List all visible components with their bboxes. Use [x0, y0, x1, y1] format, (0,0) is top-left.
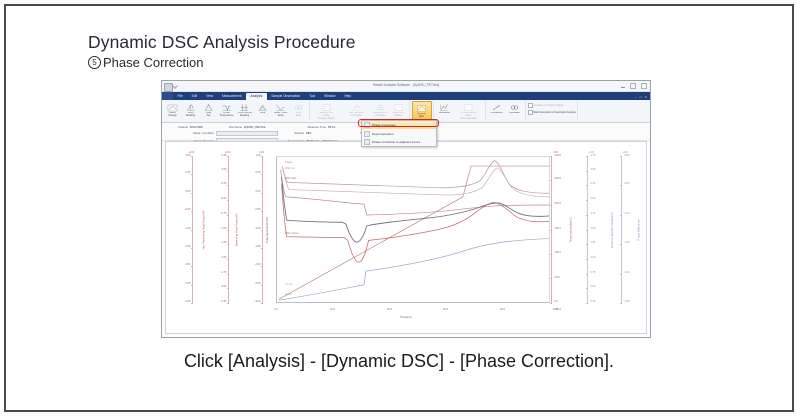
x-tick-label: 54.0: [553, 308, 558, 311]
axis-tick: -2.00: [221, 286, 227, 289]
x-axis-title: Time(min): [166, 316, 646, 319]
axis-tick: -1.00: [185, 228, 191, 231]
axis-tick: 1.80: [625, 301, 630, 304]
menu-option-label: Heat Correction: [372, 132, 394, 136]
ribbon-label: Ref. Subtract Correction: [349, 112, 364, 118]
plot-area: Phase DSC rev DSC total DSC nonrev Cp re…: [276, 156, 550, 303]
ribbon-label: Sample Line Plate Analysis Tables: [318, 112, 336, 121]
derivative-icon: [439, 103, 450, 112]
ribbon-check-batch-execution[interactable]: Batch Execution of Automatic Analysis: [528, 110, 576, 115]
axis-tick: -0.75: [221, 213, 227, 216]
ribbon-label: Time Infomat Reading: [237, 112, 252, 118]
menu-item-analysis[interactable]: Analysis: [246, 93, 267, 101]
curve-label-dsc-rev: DSC rev: [285, 167, 294, 170]
window-title: Hitachi Analysis Software - [DyDSC_PET.t…: [162, 83, 650, 87]
axis-tick: 1.25: [591, 242, 596, 245]
x-tick-label: 30.0: [443, 308, 448, 311]
axis-title: Total Heat Flow(mW): [265, 216, 269, 242]
ribbon-button-time-information-reading[interactable]: Time Infomat Reading: [236, 101, 254, 118]
axis-tick: 1.00: [185, 155, 190, 158]
ribbon-button-area[interactable]: Area: [254, 101, 272, 115]
menu-option-heat-correction[interactable]: Heat Correction: [362, 129, 436, 137]
dynamic-dsc-icon: [416, 104, 427, 113]
ribbon-button-glass-change[interactable]: Glass Change: [164, 101, 182, 118]
ribbon-label: Glass Trans Temp: [274, 112, 287, 118]
axis-tick: -1.75: [221, 272, 227, 275]
axis-tick: -2.00: [255, 264, 261, 267]
axis-tick: 0.75: [591, 272, 596, 275]
ribbon-label: Slide Curv Tables: [393, 112, 405, 118]
title-bar: Hitachi Analysis Software - [DyDSC_PET.t…: [162, 81, 650, 92]
menu-bar: File Edit View Measurement Analysis Samp…: [162, 92, 650, 100]
ribbon-button-glass-trans-temp[interactable]: Glass Trans Temp: [272, 101, 290, 118]
area-icon: [257, 103, 268, 112]
ribbon-button-heat-flow: Heat Flow: [290, 101, 308, 118]
info-value-measure-time: 54:14: [328, 125, 335, 129]
axis-tick: -1.25: [221, 242, 227, 245]
ribbon-label: Temp Reading: [186, 112, 195, 118]
menu-option-phase-correction-adjacent-zones[interactable]: Phase correction in adjacent zones: [362, 138, 436, 146]
ribbon-button-sample-line-plate-analysis-tables: Sample Line Plate Analysis Tables: [312, 101, 342, 121]
doc-restore-icon[interactable]: □: [640, 95, 642, 99]
axis-tick: 2.60: [625, 183, 630, 186]
axis-tick: -3.00: [185, 301, 191, 304]
axis-tick: -2.00: [185, 264, 191, 267]
axis-tick: 0.0: [555, 301, 559, 304]
left-axis-non-reversing-heat-flow: x100 Non-Reversing Heat Flow(mW) 1.00 0.…: [192, 156, 193, 303]
calibration-icon: [509, 103, 520, 112]
axis-tick: 0.25: [591, 301, 596, 304]
curve-label-dsc-nonrev: DSC nonrev: [285, 232, 299, 235]
axis-tick: 250.0: [555, 178, 562, 181]
checkbox-icon: [528, 110, 533, 115]
axis-tick: 0.25: [221, 155, 226, 158]
ribbon-label: Correlation: [490, 112, 502, 115]
ribbon-label: Glass Change: [168, 112, 177, 118]
adjacent-zones-icon: [364, 139, 370, 145]
axis-tick: 200.0: [555, 203, 562, 206]
curve-label-dsc-total: DSC total: [285, 177, 296, 180]
menu-window-controls: – □ ✕: [635, 95, 647, 99]
step-number-badge: 5: [88, 56, 101, 69]
axis-tick: 0.50: [185, 172, 190, 175]
slide: Dynamic DSC Analysis Procedure 5 Phase C…: [4, 4, 794, 412]
ribbon-button-temp-reading[interactable]: Temp Reading: [182, 101, 200, 118]
glass-trans-temp-icon: [275, 103, 286, 112]
ribbon-group-correlation-calibration: Correlation Calibration: [486, 100, 526, 120]
axis-tick: -1.50: [185, 246, 191, 249]
info-label-module: Module: [166, 125, 188, 129]
menu-item-help[interactable]: Help: [340, 93, 356, 101]
ribbon-button-correlation[interactable]: Correlation: [488, 101, 506, 115]
application-window: Hitachi Analysis Software - [DyDSC_PET.t…: [161, 80, 651, 338]
onset-temperature-icon: [221, 103, 232, 112]
axis-tick: 2.00: [625, 272, 630, 275]
slide-curve-icon: [393, 103, 404, 112]
axis-tick: -3.00: [255, 301, 261, 304]
ribbon-label: Int Subtraction Spec Data Calculate: [460, 112, 478, 121]
menu-item-tool[interactable]: Tool: [305, 93, 320, 101]
meas-condition-field[interactable]: [216, 131, 278, 137]
info-label-measure-time: Measure Time: [296, 125, 326, 129]
maximize-icon[interactable]: [630, 83, 636, 89]
axis-tick: 0.50: [591, 286, 596, 289]
ribbon-label: Creation of Analysis Tables: [534, 104, 564, 107]
ribbon-check-creation-of-analysis-tables[interactable]: Creation of Analysis Tables: [528, 103, 576, 108]
left-axis-reversing-heat-flow: x100 Reversing Heat Flow(mW) 0.25 0.00 -…: [228, 156, 229, 303]
axis-tick: 2.00: [591, 198, 596, 201]
ribbon-button-derivative[interactable]: Derivative: [436, 101, 454, 115]
x-tick-label: 20.0: [387, 308, 392, 311]
page-title: Dynamic DSC Analysis Procedure: [88, 32, 356, 53]
chart-canvas: x100 Non-Reversing Heat Flow(mW) 1.00 0.…: [166, 142, 646, 333]
info-label-meas-condition: Meas. Condition: [166, 131, 214, 135]
ribbon-label: Heat Flow: [296, 112, 301, 118]
curve-label-phase: Phase: [285, 161, 292, 164]
ribbon-label: Onset Temperature: [219, 112, 233, 118]
plot-curves: [277, 157, 549, 302]
axis-title: Phase Difference: [637, 219, 641, 240]
axis-tick: 0.00: [221, 169, 226, 172]
axis-tick: 0.00: [255, 191, 260, 194]
axis-tick: 1.75: [591, 213, 596, 216]
time-info-icon: [239, 103, 250, 112]
menu-item-measurement[interactable]: Measurement: [218, 93, 247, 101]
menu-item-window[interactable]: Window: [320, 93, 340, 101]
axis-tick: 2.40: [625, 213, 630, 216]
close-icon[interactable]: [641, 83, 647, 89]
ribbon-button-dynamic-dsc[interactable]: Dynamic DSC: [412, 101, 432, 120]
x-tick-label: 0.0: [274, 308, 278, 311]
axis-tick: -1.50: [255, 246, 261, 249]
axis-title: Reverse Specific Heat(J/g K): [610, 212, 614, 248]
ribbon-button-ref-subtract-correction: Ref. Subtract Correction: [342, 101, 372, 118]
doc-minimize-icon[interactable]: –: [635, 95, 637, 99]
int-subtract-icon: [463, 103, 474, 112]
menu-option-label: Phase correction in adjacent zones: [372, 140, 420, 144]
axis-tick: -1.00: [255, 228, 261, 231]
slide-subtitle: 5 Phase Correction: [88, 55, 356, 70]
axis-tick: -0.50: [221, 198, 227, 201]
ribbon-toolbar: Glass Change Temp Reading: [162, 100, 650, 123]
axis-tick: 0.50: [255, 172, 260, 175]
ribbon-button-onset-temperature[interactable]: Onset Temperature: [218, 101, 236, 118]
axis-tick: 100.0: [555, 252, 562, 255]
info-value-sample: PET: [306, 131, 360, 135]
correlation-icon: [491, 103, 502, 112]
ribbon-group-automation: Creation of Analysis Tables Batch Execut…: [526, 100, 578, 120]
axis-tick: 300.0: [555, 155, 562, 158]
slide-heading: Dynamic DSC Analysis Procedure 5 Phase C…: [88, 32, 356, 70]
info-value-file-name: DyDSC_PET.tha: [244, 125, 296, 129]
axis-tick: 1.50: [591, 228, 596, 231]
menu-logo-icon: [162, 92, 173, 100]
minimize-icon[interactable]: [621, 84, 625, 88]
ribbon-label: Baseline Arith Calculate: [373, 112, 388, 118]
info-label-file-name: File Name: [216, 125, 242, 129]
axis-tick: -1.00: [221, 228, 227, 231]
menu-item-edit[interactable]: Edit: [187, 93, 202, 101]
sample-table-icon: [321, 103, 332, 112]
doc-close-icon[interactable]: ✕: [644, 95, 647, 99]
ribbon-label: Peak Top: [206, 112, 212, 118]
axis-tick: 2.25: [591, 183, 596, 186]
menu-item-file[interactable]: File: [173, 93, 187, 101]
axis-tick: 1.00: [591, 257, 596, 260]
axis-tick: -2.25: [221, 301, 227, 304]
right-axis-phase-difference: x100 Phase Difference 2.80 2.60 2.40 2.2…: [621, 156, 622, 303]
ribbon-button-baseline-calculate: Baseline Arith Calculate: [372, 101, 390, 118]
axis-tick: -1.50: [221, 257, 227, 260]
axis-tick: 2.80: [625, 155, 630, 158]
highlight-annotation-box: [358, 119, 439, 127]
axis-tick: 2.75: [591, 155, 596, 158]
baseline-icon: [375, 103, 386, 112]
glass-transition-icon: [167, 103, 178, 112]
ribbon-label: Area: [260, 112, 265, 115]
axis-tick: -2.50: [185, 283, 191, 286]
curve-label-cp-rev: Cp rev: [285, 283, 292, 286]
ribbon-group-derivative: Derivative Int Subtraction Spec Data Cal…: [434, 100, 486, 120]
axis-tick: 150.0: [555, 228, 562, 231]
ribbon-group-dynamic-dsc: Dynamic DSC: [410, 100, 434, 120]
axis-tick: 2.20: [625, 242, 630, 245]
ribbon-label: Derivative: [439, 112, 450, 115]
ref-subtract-icon: [351, 103, 362, 112]
right-axis-temperature: x100 Temperature(deg C) 300.0 250.0 200.…: [551, 156, 552, 303]
axis-tick: -2.50: [255, 283, 261, 286]
axis-tick: 50.0: [555, 277, 560, 280]
x-tick-label: 40.0: [500, 308, 505, 311]
axis-title: Temperature(deg C): [569, 217, 573, 242]
ribbon-button-slide-curve-tables: Slide Curv Tables: [390, 101, 408, 118]
info-label-sample: Sample: [278, 131, 304, 135]
curve-label-temp: Temp: [285, 293, 291, 296]
heat-flow-icon: [293, 103, 304, 112]
ribbon-group-tables: Sample Line Plate Analysis Tables Ref. S…: [310, 100, 410, 120]
right-axis-reverse-specific-heat: x100 Reverse Specific Heat(J/g K) 2.75 2…: [587, 156, 588, 303]
axis-tick: 2.50: [591, 169, 596, 172]
axis-title: Non-Reversing Heat Flow(mW): [201, 210, 205, 249]
left-axis-total-heat-flow: x100 Total Heat Flow(mW) 1.00 0.50 0.00 …: [262, 156, 263, 303]
subtitle-text: Phase Correction: [103, 55, 203, 70]
axis-tick: 0.00: [185, 191, 190, 194]
axis-title: Reversing Heat Flow(mW): [234, 213, 238, 246]
window-controls: [621, 83, 647, 89]
dsc-chart: x100 Non-Reversing Heat Flow(mW) 1.00 0.…: [165, 141, 647, 334]
ribbon-label: Batch Execution of Automatic Analysis: [534, 111, 576, 114]
ribbon-button-int-subtraction-spec-data: Int Subtraction Spec Data Calculate: [454, 101, 484, 121]
ribbon-group-analysis-tools: Glass Change Temp Reading: [162, 100, 310, 120]
checkbox-icon: [528, 103, 533, 108]
info-value-module: DSC7000: [190, 125, 216, 129]
temp-reading-icon: [185, 103, 196, 112]
axis-tick: 1.00: [255, 155, 260, 158]
instruction-caption: Click [Analysis] - [Dynamic DSC] - [Phas…: [6, 351, 792, 372]
axis-tick: -0.50: [255, 209, 261, 212]
axis-tick: -0.25: [221, 183, 227, 186]
menu-item-view[interactable]: View: [202, 93, 218, 101]
x-tick-label: 10.0: [330, 308, 335, 311]
axis-tick: -0.50: [185, 209, 191, 212]
heat-correction-icon: [364, 131, 370, 137]
menu-item-sample-observation[interactable]: Sample Observation: [267, 93, 305, 101]
peak-top-icon: [203, 103, 214, 112]
ribbon-button-calibration[interactable]: Calibration: [506, 101, 524, 115]
ribbon-label: Calibration: [509, 112, 521, 115]
ribbon-button-peak-top[interactable]: Peak Top: [200, 101, 218, 118]
